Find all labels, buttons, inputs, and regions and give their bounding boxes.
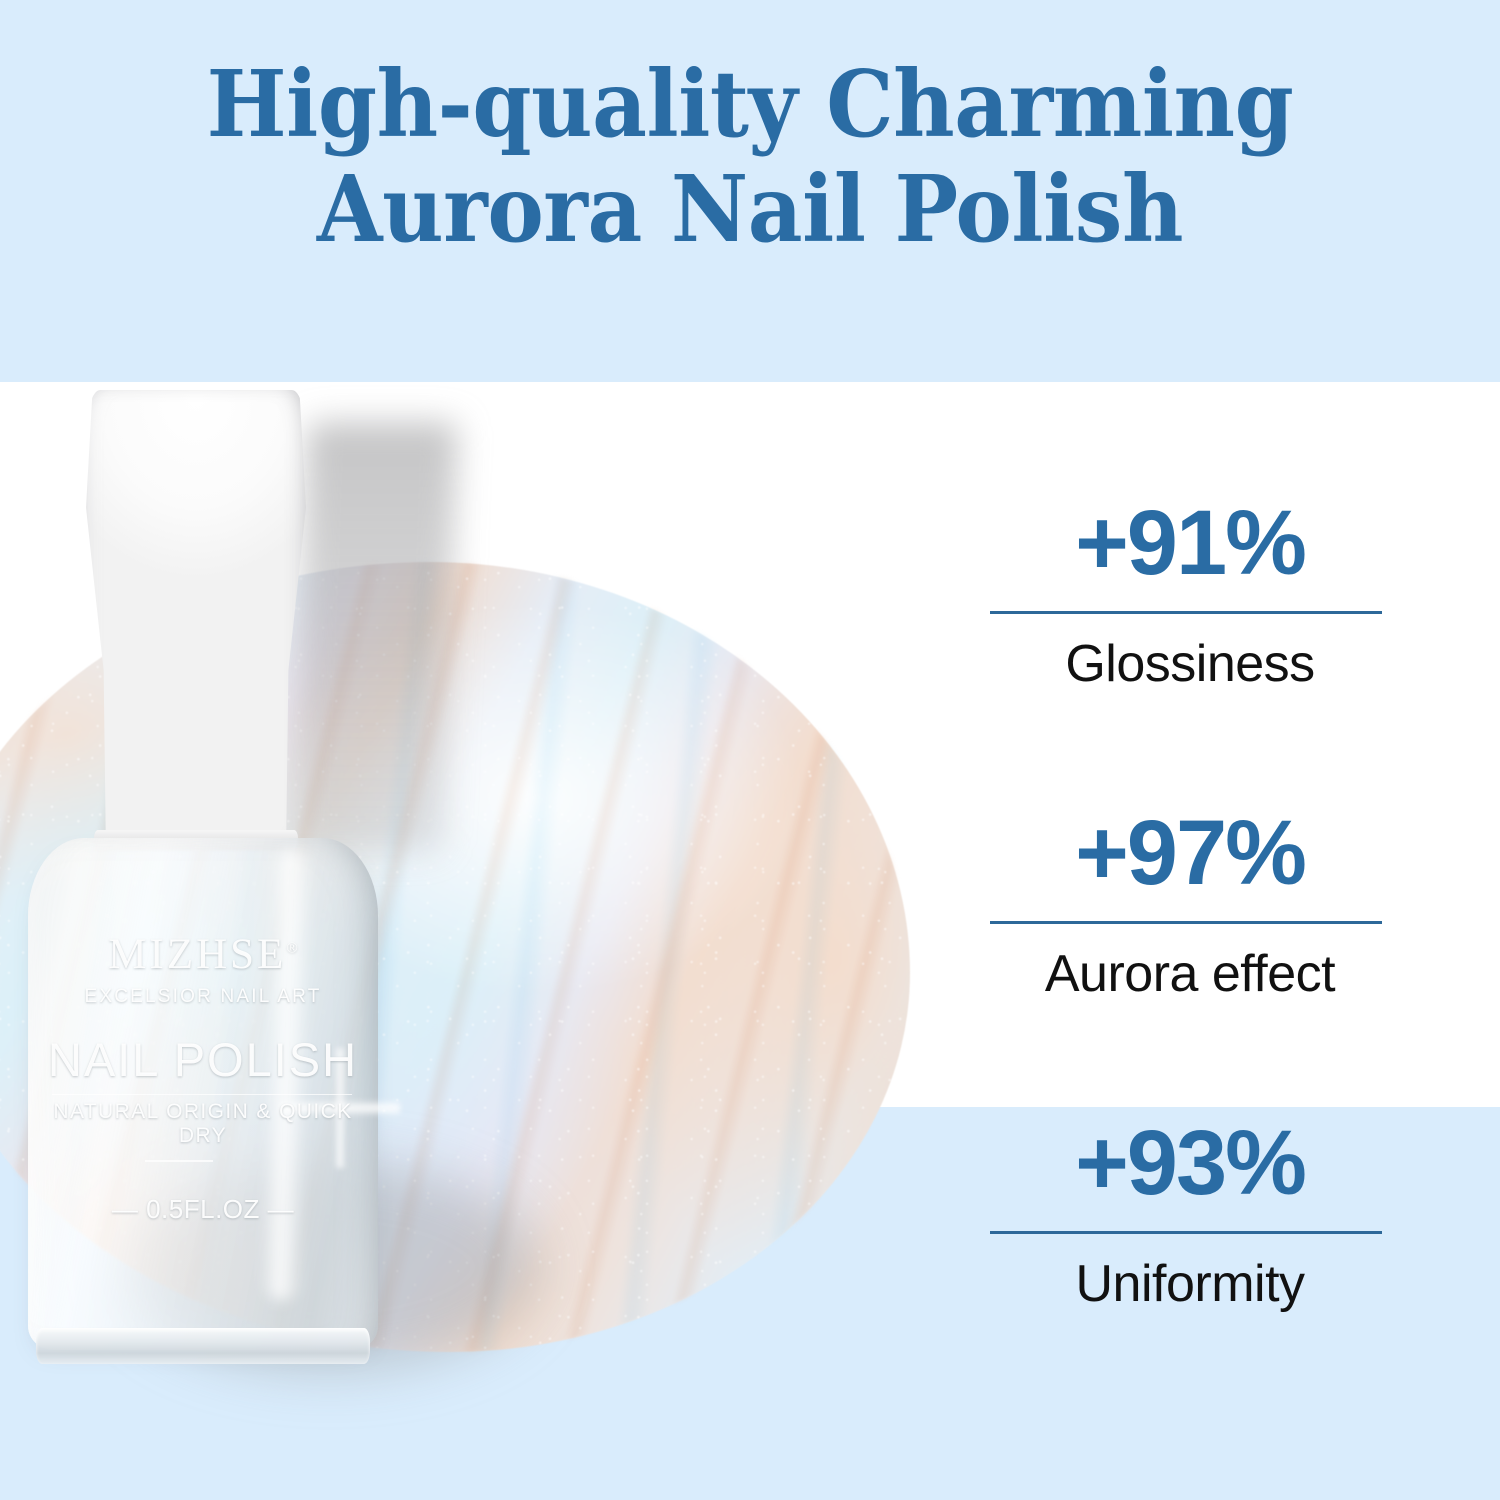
stat-value: +91% <box>990 497 1390 589</box>
stat-block-aurora-effect: +97% Aurora effect <box>990 807 1390 1003</box>
stat-label: Uniformity <box>990 1256 1390 1313</box>
cap-shadow <box>292 422 457 852</box>
label-divider <box>52 1094 352 1095</box>
stats-column: +91% Glossiness +97% Aurora effect +93% … <box>940 382 1500 1500</box>
stat-divider <box>990 611 1382 614</box>
stat-value: +93% <box>990 1117 1390 1209</box>
bottle-base <box>36 1328 370 1364</box>
headline-line-1: High-quality Charming <box>60 52 1440 157</box>
product-photo: MIZHSE® EXCELSIOR NAIL ART NAIL POLISH N… <box>0 382 940 1500</box>
headline-line-2: Aurora Nail Polish <box>60 157 1440 262</box>
product-infographic: High-quality Charming Aurora Nail Polish… <box>0 0 1500 1500</box>
bottle-cap <box>86 390 306 842</box>
sparkle-icon <box>280 1048 400 1168</box>
stat-divider <box>990 921 1382 924</box>
stat-value: +97% <box>990 807 1390 899</box>
page-title: High-quality Charming Aurora Nail Polish <box>60 52 1440 262</box>
stat-label: Glossiness <box>990 636 1390 693</box>
label-small-dash <box>145 1160 213 1162</box>
stat-block-uniformity: +93% Uniformity <box>990 1117 1390 1313</box>
stat-block-glossiness: +91% Glossiness <box>990 497 1390 693</box>
stat-label: Aurora effect <box>990 946 1390 1003</box>
stat-divider <box>990 1231 1382 1234</box>
